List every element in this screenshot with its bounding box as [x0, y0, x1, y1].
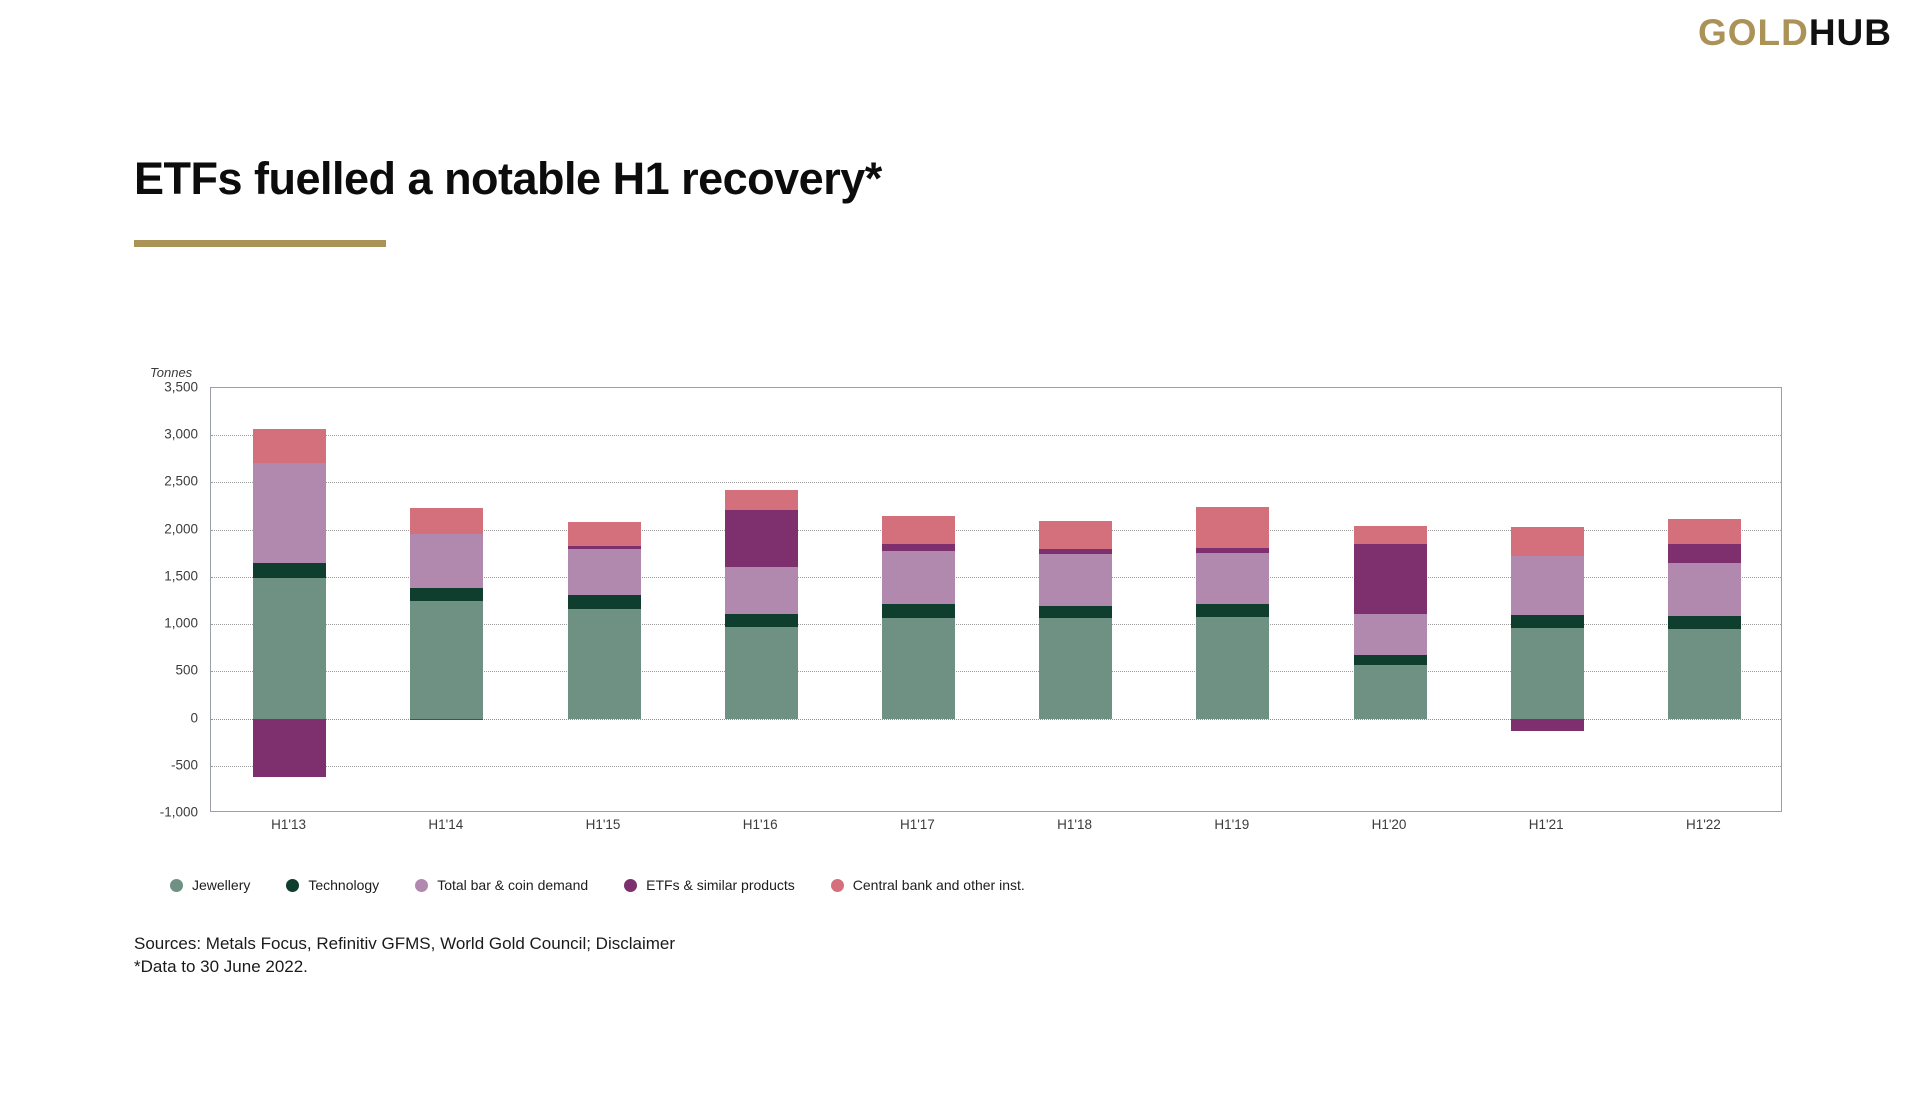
bar-segment[interactable]: [253, 563, 326, 578]
legend-label: Technology: [308, 877, 379, 893]
legend-swatch-icon: [831, 879, 844, 892]
bar-segment[interactable]: [1039, 521, 1112, 548]
bar-segment[interactable]: [1354, 655, 1427, 664]
y-axis-unit-label: Tonnes: [150, 365, 192, 380]
bar-segment[interactable]: [1039, 554, 1112, 605]
bar-segment[interactable]: [253, 578, 326, 719]
bar-segment[interactable]: [1354, 526, 1427, 544]
x-tick-label: H1'20: [1372, 817, 1407, 832]
bar-group[interactable]: [1511, 388, 1584, 811]
bar-group[interactable]: [882, 388, 955, 811]
logo-hub-text: HUB: [1809, 12, 1892, 53]
bar-segment[interactable]: [1196, 548, 1269, 553]
bar-segment[interactable]: [1668, 563, 1741, 615]
bar-group[interactable]: [410, 388, 483, 811]
plot-area: [210, 387, 1782, 812]
bar-segment[interactable]: [568, 546, 641, 549]
goldhub-logo: GOLDHUB: [1698, 14, 1892, 51]
bar-segment[interactable]: [1196, 553, 1269, 604]
legend-item[interactable]: ETFs & similar products: [624, 877, 795, 893]
x-tick-label: H1'22: [1686, 817, 1721, 832]
bar-segment[interactable]: [1668, 544, 1741, 563]
y-tick-label: 500: [175, 663, 198, 678]
bar-segment[interactable]: [1354, 544, 1427, 613]
legend-swatch-icon: [415, 879, 428, 892]
bar-series-area: [211, 388, 1781, 811]
x-tick-label: H1'19: [1214, 817, 1249, 832]
bar-group[interactable]: [725, 388, 798, 811]
bar-segment[interactable]: [882, 551, 955, 603]
title-underline-rule: [134, 240, 386, 247]
legend-label: Jewellery: [192, 877, 250, 893]
bar-segment[interactable]: [725, 614, 798, 627]
bar-segment[interactable]: [253, 719, 326, 778]
bar-segment[interactable]: [1354, 614, 1427, 656]
bar-segment[interactable]: [1668, 616, 1741, 629]
bar-group[interactable]: [1196, 388, 1269, 811]
bar-segment[interactable]: [1668, 519, 1741, 544]
bar-segment[interactable]: [725, 627, 798, 718]
y-tick-label: -1,000: [160, 805, 198, 820]
bar-segment[interactable]: [1039, 618, 1112, 718]
y-tick-label: 3,000: [164, 427, 198, 442]
legend-item[interactable]: Central bank and other inst.: [831, 877, 1025, 893]
bar-segment[interactable]: [410, 601, 483, 719]
bar-segment[interactable]: [1354, 665, 1427, 719]
page-title: ETFs fuelled a notable H1 recovery*: [134, 155, 882, 202]
x-tick-label: H1'21: [1529, 817, 1564, 832]
x-tick-label: H1'13: [271, 817, 306, 832]
bar-segment[interactable]: [882, 544, 955, 551]
bar-segment[interactable]: [410, 534, 483, 587]
legend-swatch-icon: [170, 879, 183, 892]
bar-segment[interactable]: [568, 609, 641, 719]
x-tick-label: H1'16: [743, 817, 778, 832]
chart-container: Tonnes 3,5003,0002,5002,0001,5001,000500…: [150, 365, 1790, 845]
bar-segment[interactable]: [1511, 527, 1584, 556]
bar-group[interactable]: [1039, 388, 1112, 811]
bar-segment[interactable]: [725, 567, 798, 614]
bar-segment[interactable]: [1196, 507, 1269, 549]
x-tick-label: H1'18: [1057, 817, 1092, 832]
bar-segment[interactable]: [1039, 606, 1112, 619]
bar-segment[interactable]: [568, 549, 641, 596]
legend-swatch-icon: [624, 879, 637, 892]
x-axis-tick-labels: H1'13H1'14H1'15H1'16H1'17H1'18H1'19H1'20…: [210, 817, 1782, 841]
bar-segment[interactable]: [882, 516, 955, 544]
legend-item[interactable]: Technology: [286, 877, 379, 893]
legend-item[interactable]: Jewellery: [170, 877, 250, 893]
bar-segment[interactable]: [1511, 719, 1584, 732]
legend-swatch-icon: [286, 879, 299, 892]
bar-segment[interactable]: [410, 508, 483, 534]
y-tick-label: 2,500: [164, 474, 198, 489]
y-tick-label: 3,500: [164, 380, 198, 395]
bar-segment[interactable]: [1196, 604, 1269, 617]
bar-group[interactable]: [1668, 388, 1741, 811]
bar-segment[interactable]: [1511, 615, 1584, 629]
y-tick-label: 1,500: [164, 568, 198, 583]
x-tick-label: H1'14: [428, 817, 463, 832]
bar-segment[interactable]: [410, 588, 483, 601]
bar-segment[interactable]: [1196, 617, 1269, 719]
logo-gold-text: GOLD: [1698, 12, 1809, 53]
y-tick-label: 2,000: [164, 521, 198, 536]
y-axis-tick-labels: 3,5003,0002,5002,0001,5001,0005000-500-1…: [150, 387, 206, 812]
bar-segment[interactable]: [1511, 556, 1584, 615]
sources-line-2: *Data to 30 June 2022.: [134, 956, 675, 979]
bar-segment[interactable]: [568, 595, 641, 609]
bar-group[interactable]: [1354, 388, 1427, 811]
bar-segment[interactable]: [725, 490, 798, 510]
y-tick-label: 1,000: [164, 616, 198, 631]
legend-label: ETFs & similar products: [646, 877, 795, 893]
bar-segment[interactable]: [1668, 629, 1741, 719]
chart-legend: JewelleryTechnologyTotal bar & coin dema…: [170, 877, 1061, 893]
legend-item[interactable]: Total bar & coin demand: [415, 877, 588, 893]
bar-segment[interactable]: [410, 719, 483, 720]
bar-segment[interactable]: [725, 510, 798, 567]
legend-label: Central bank and other inst.: [853, 877, 1025, 893]
x-tick-label: H1'15: [586, 817, 621, 832]
x-tick-label: H1'17: [900, 817, 935, 832]
bar-segment[interactable]: [253, 463, 326, 563]
legend-label: Total bar & coin demand: [437, 877, 588, 893]
sources-line-1: Sources: Metals Focus, Refinitiv GFMS, W…: [134, 933, 675, 956]
y-tick-label: -500: [171, 757, 198, 772]
bar-segment[interactable]: [882, 618, 955, 719]
y-tick-label: 0: [190, 710, 198, 725]
bar-group[interactable]: [253, 388, 326, 811]
sources-note: Sources: Metals Focus, Refinitiv GFMS, W…: [134, 933, 675, 979]
bar-segment[interactable]: [568, 522, 641, 546]
bar-segment[interactable]: [882, 604, 955, 618]
bar-segment[interactable]: [1511, 628, 1584, 718]
slide-canvas: GOLDHUB ETFs fuelled a notable H1 recove…: [0, 0, 1920, 1098]
bar-group[interactable]: [568, 388, 641, 811]
bar-segment[interactable]: [1039, 549, 1112, 555]
bar-segment[interactable]: [253, 429, 326, 463]
